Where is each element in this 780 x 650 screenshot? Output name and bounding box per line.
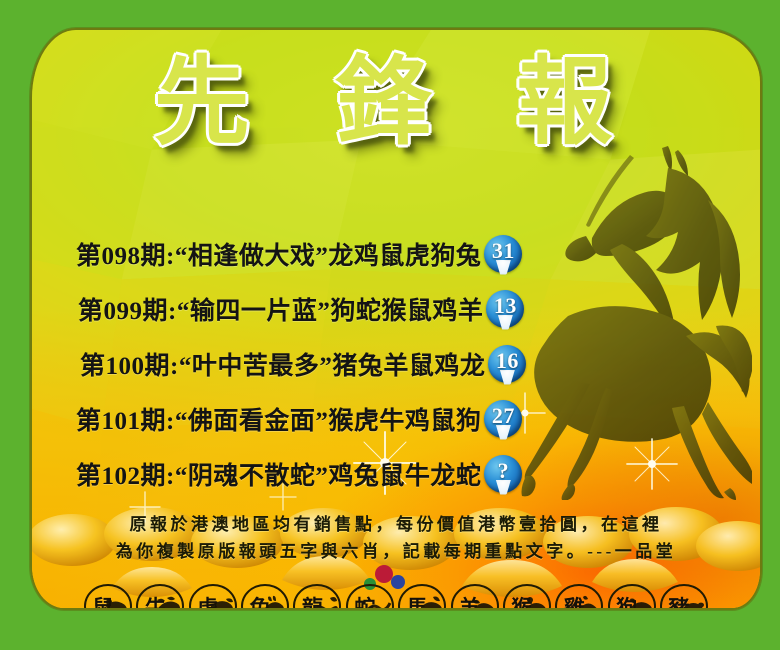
- issue-quote: “阴魂不散蛇”: [175, 456, 329, 492]
- lottery-ball: 31: [484, 235, 522, 273]
- page-title: 先 鋒 報: [32, 52, 760, 153]
- footer-note-line-1: 原報於港澳地區均有銷售點，每份價值港幣壹拾圓，在這裡: [32, 511, 760, 538]
- issue-label: 第100期:: [80, 346, 179, 382]
- zodiac-horse: 馬: [398, 584, 446, 610]
- ox-icon: [155, 594, 181, 610]
- zodiac-dog: 狗: [608, 584, 656, 610]
- zodiac-dragon: 龍: [293, 584, 341, 610]
- ball-number: 27: [492, 405, 515, 427]
- zodiac-row: 鼠 牛 虎 兔 龍 蛇: [84, 582, 708, 610]
- dog-icon: [627, 594, 653, 610]
- ball-number: 13: [494, 295, 517, 317]
- tiger-icon: [208, 594, 234, 610]
- pig-icon: [679, 594, 705, 610]
- issue-quote: “佛面看金面”: [175, 401, 329, 437]
- goat-icon: [470, 594, 496, 610]
- issue-animals: 猴虎牛鸡鼠狗: [328, 401, 481, 437]
- zodiac-ox: 牛: [136, 584, 184, 610]
- zodiac-pig: 豬: [660, 584, 708, 610]
- issue-row: 第099期: “输四一片蓝” 狗蛇猴鼠鸡羊 13: [76, 281, 720, 336]
- zodiac-rooster: 雞: [555, 584, 603, 610]
- zodiac-snake: 蛇: [346, 584, 394, 610]
- zodiac-rabbit: 兔: [241, 584, 289, 610]
- zodiac-rat: 鼠: [84, 584, 132, 610]
- lottery-ball: 16: [488, 345, 526, 383]
- issue-animals: 鸡兔鼠牛龙蛇: [328, 456, 481, 492]
- rabbit-icon: [260, 594, 286, 610]
- issue-animals: 猪兔羊鼠鸡龙: [332, 346, 485, 382]
- issue-label: 第099期:: [78, 291, 177, 327]
- lottery-ball: 13: [486, 290, 524, 328]
- poster-canvas: 先 鋒 報 第098期: “相逢做大戏” 龙鸡鼠虎狗兔 31 第099期: “输…: [0, 0, 780, 650]
- issue-row: 第100期: “叶中苦最多” 猪兔羊鼠鸡龙 16: [76, 336, 720, 391]
- issue-row: 第102期: “阴魂不散蛇” 鸡兔鼠牛龙蛇 ?: [76, 446, 720, 501]
- issue-animals: 狗蛇猴鼠鸡羊: [330, 291, 483, 327]
- zodiac-tiger: 虎: [189, 584, 237, 610]
- issue-animals: 龙鸡鼠虎狗兔: [328, 236, 481, 272]
- lottery-ball: ?: [484, 455, 522, 493]
- snake-icon: [365, 594, 391, 610]
- footer-note: 原報於港澳地區均有銷售點，每份價值港幣壹拾圓，在這裡 為你複製原版報頭五字與六肖…: [32, 511, 760, 565]
- issue-quote: “叶中苦最多”: [179, 346, 333, 382]
- rat-icon: [103, 594, 129, 610]
- poster-panel: 先 鋒 報 第098期: “相逢做大戏” 龙鸡鼠虎狗兔 31 第099期: “输…: [30, 28, 762, 610]
- issue-label: 第102期:: [76, 456, 175, 492]
- ball-number: 31: [492, 240, 515, 262]
- issue-label: 第098期:: [76, 236, 175, 272]
- monkey-icon: [522, 594, 548, 610]
- zodiac-goat: 羊: [451, 584, 499, 610]
- issue-label: 第101期:: [76, 401, 175, 437]
- rooster-icon: [574, 594, 600, 610]
- issue-row: 第098期: “相逢做大戏” 龙鸡鼠虎狗兔 31: [76, 226, 720, 281]
- ball-number: ?: [498, 460, 510, 482]
- issue-quote: “相逢做大戏”: [175, 236, 329, 272]
- footer-note-line-2: 為你複製原版報頭五字與六肖，記載每期重點文字。---一品堂: [32, 538, 760, 565]
- horse-icon: [417, 594, 443, 610]
- issue-row: 第101期: “佛面看金面” 猴虎牛鸡鼠狗 27: [76, 391, 720, 446]
- lottery-ball: 27: [484, 400, 522, 438]
- issue-list: 第098期: “相逢做大戏” 龙鸡鼠虎狗兔 31 第099期: “输四一片蓝” …: [76, 226, 720, 501]
- ball-number: 16: [496, 350, 519, 372]
- dragon-icon: [312, 594, 338, 610]
- zodiac-monkey: 猴: [503, 584, 551, 610]
- issue-quote: “输四一片蓝”: [177, 291, 331, 327]
